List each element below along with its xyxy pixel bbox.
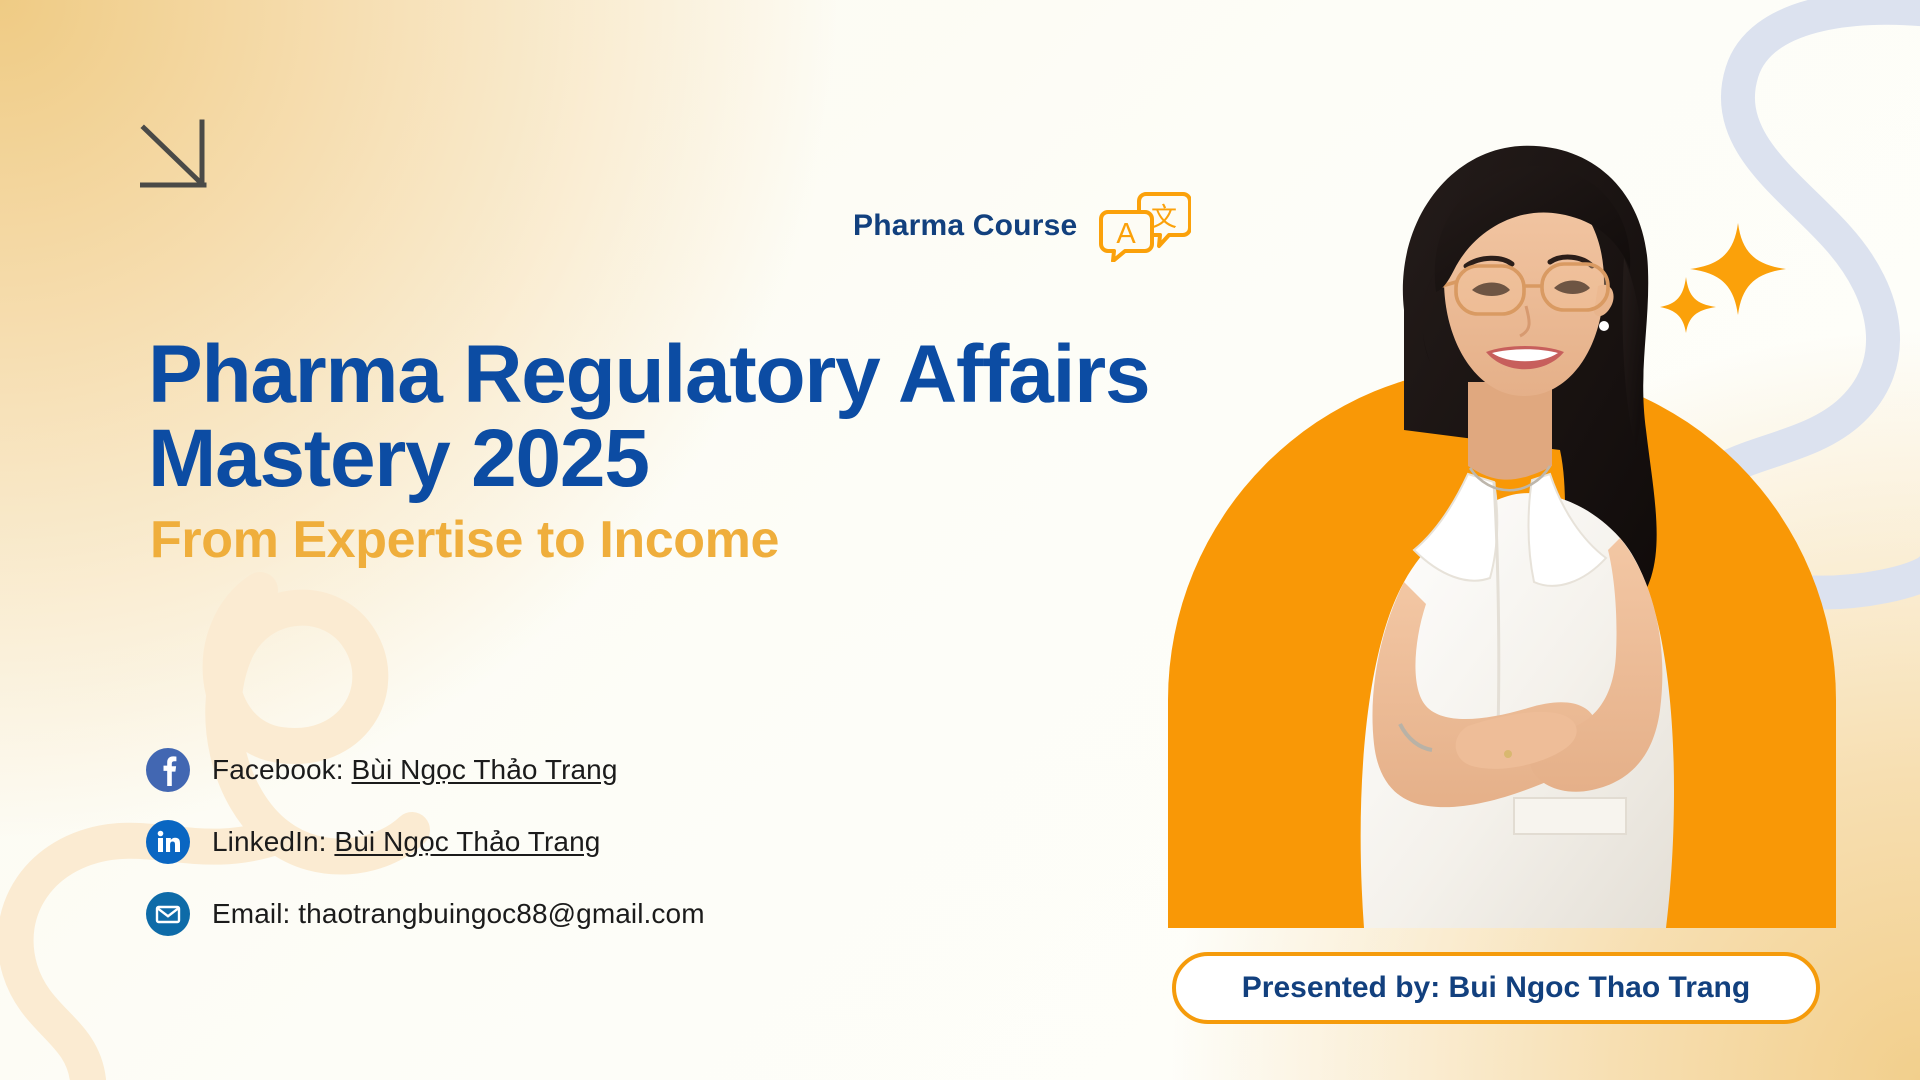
contact-label-email: Email: <box>212 898 298 929</box>
headline-line-2: Mastery 2025 <box>148 413 649 504</box>
contact-row-facebook[interactable]: Facebook: Bùi Ngọc Thảo Trang <box>146 748 705 792</box>
contact-text-facebook: Facebook: Bùi Ngọc Thảo Trang <box>212 754 618 786</box>
contact-label-linkedin: LinkedIn: <box>212 826 334 857</box>
arrow-down-right-icon <box>140 118 216 190</box>
headline-line-1: Pharma Regulatory Affairs <box>148 329 1149 420</box>
contact-row-email[interactable]: Email: thaotrangbuingoc88@gmail.com <box>146 892 705 936</box>
contact-value-linkedin[interactable]: Bùi Ngọc Thảo Trang <box>334 826 600 857</box>
eyebrow-group: Pharma Course 文 A <box>853 190 1191 262</box>
course-label: Pharma Course <box>853 209 1077 243</box>
linkedin-icon[interactable] <box>146 820 190 864</box>
facebook-icon[interactable] <box>146 748 190 792</box>
contact-row-linkedin[interactable]: LinkedIn: Bùi Ngọc Thảo Trang <box>146 820 705 864</box>
email-icon[interactable] <box>146 892 190 936</box>
contact-list: Facebook: Bùi Ngọc Thảo Trang LinkedIn: … <box>146 748 705 936</box>
subtitle: From Expertise to Income <box>150 510 779 570</box>
presenter-portrait <box>1168 130 1848 928</box>
presented-by-badge: Presented by: Bui Ngoc Thao Trang <box>1172 952 1820 1024</box>
translate-latin-glyph: A <box>1117 218 1137 250</box>
contact-value-email[interactable]: thaotrangbuingoc88@gmail.com <box>298 898 704 929</box>
presented-by-text: Presented by: Bui Ngoc Thao Trang <box>1242 971 1750 1005</box>
contact-text-linkedin: LinkedIn: Bùi Ngọc Thảo Trang <box>212 826 600 858</box>
contact-text-email: Email: thaotrangbuingoc88@gmail.com <box>212 898 705 930</box>
slide-canvas: Pharma Course 文 A Pharma Regulatory Affa… <box>0 0 1920 1080</box>
contact-value-facebook[interactable]: Bùi Ngọc Thảo Trang <box>352 754 618 785</box>
contact-label-facebook: Facebook: <box>212 754 352 785</box>
page-title: Pharma Regulatory Affairs Mastery 2025 <box>148 333 1188 502</box>
